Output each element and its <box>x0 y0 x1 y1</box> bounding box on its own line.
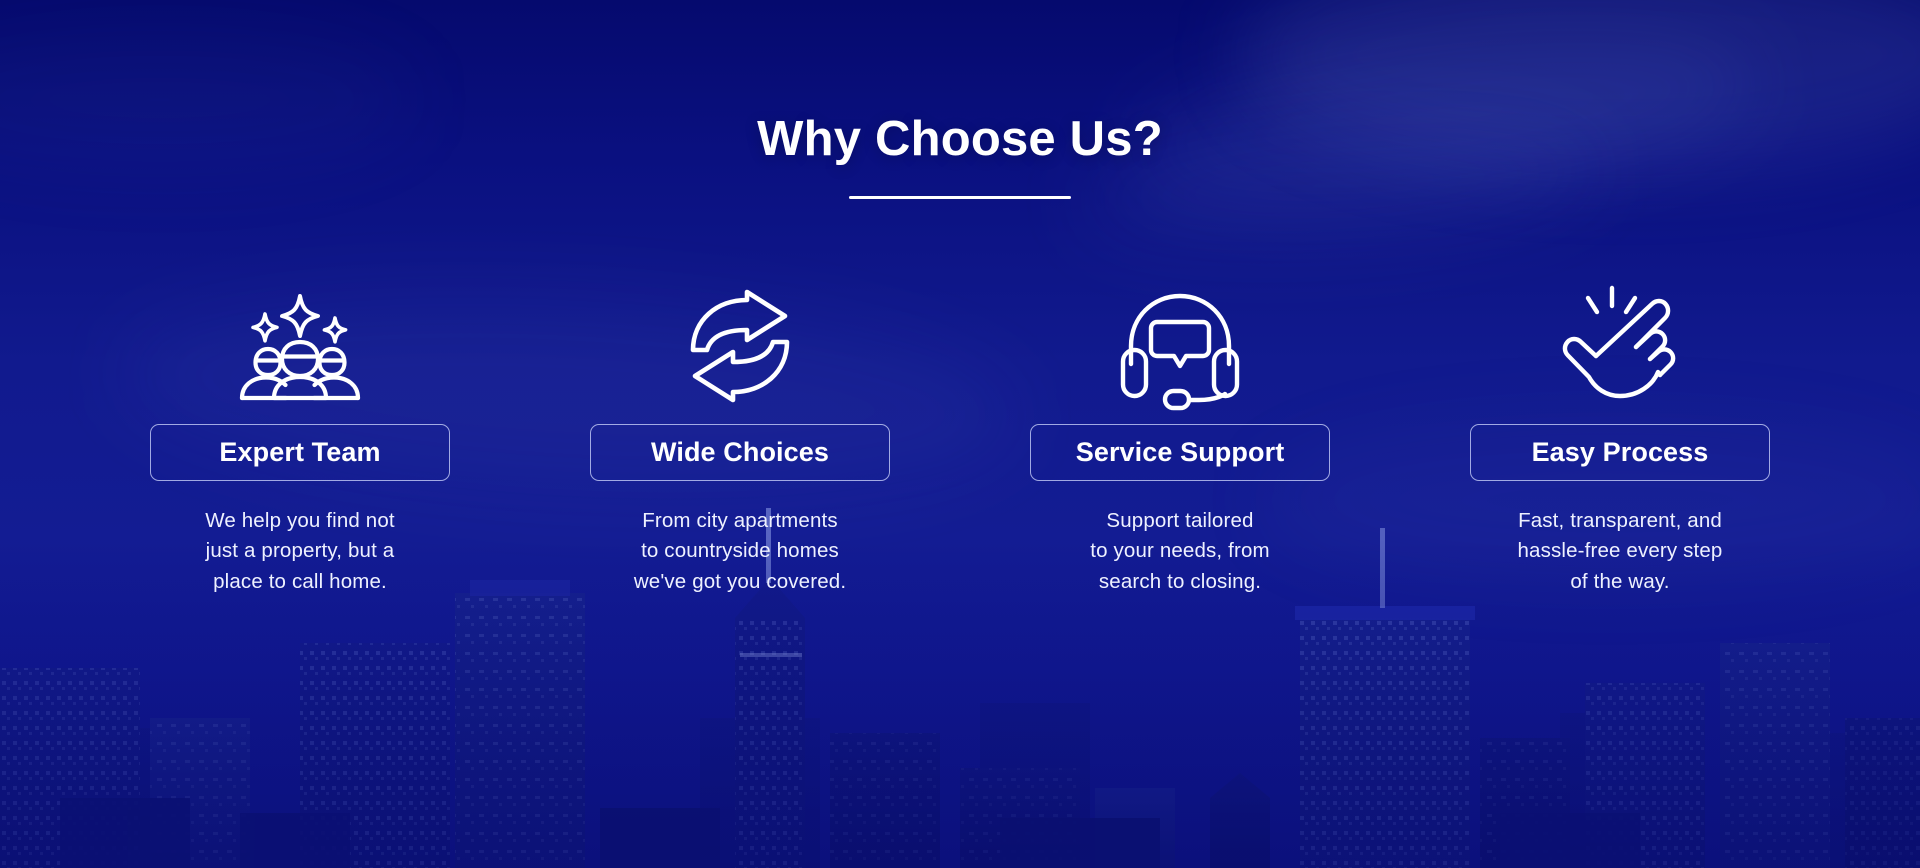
feature-card-label[interactable]: Expert Team <box>150 424 450 481</box>
headset-support-icon <box>1121 292 1239 402</box>
page-title: Why Choose Us? <box>0 112 1920 167</box>
feature-card-description: We help you find not just a property, bu… <box>205 506 395 596</box>
feature-card-easy-process[interactable]: Easy Process Fast, transparent, and hass… <box>1470 292 1770 597</box>
section-why-choose-us: Why Choose Us? <box>0 0 1920 868</box>
title-divider <box>849 196 1071 199</box>
exchange-arrows-icon <box>685 292 795 402</box>
feature-card-label[interactable]: Service Support <box>1030 424 1330 481</box>
feature-card-description: Support tailored to your needs, from sea… <box>1090 506 1269 596</box>
feature-card-description: From city apartments to countryside home… <box>634 506 846 596</box>
feature-card-label[interactable]: Easy Process <box>1470 424 1770 481</box>
feature-card-description: Fast, transparent, and hassle-free every… <box>1518 506 1723 596</box>
feature-card-wide-choices[interactable]: Wide Choices From city apartments to cou… <box>590 292 890 597</box>
section-heading: Why Choose Us? <box>0 112 1920 199</box>
feature-card-service-support[interactable]: Service Support Support tailored to your… <box>1030 292 1330 597</box>
feature-card-list: Expert Team We help you find not just a … <box>150 292 1770 597</box>
feature-card-label[interactable]: Wide Choices <box>590 424 890 481</box>
feature-card-expert-team[interactable]: Expert Team We help you find not just a … <box>150 292 450 597</box>
click-hand-icon <box>1564 292 1676 402</box>
team-sparkle-icon <box>234 292 366 402</box>
